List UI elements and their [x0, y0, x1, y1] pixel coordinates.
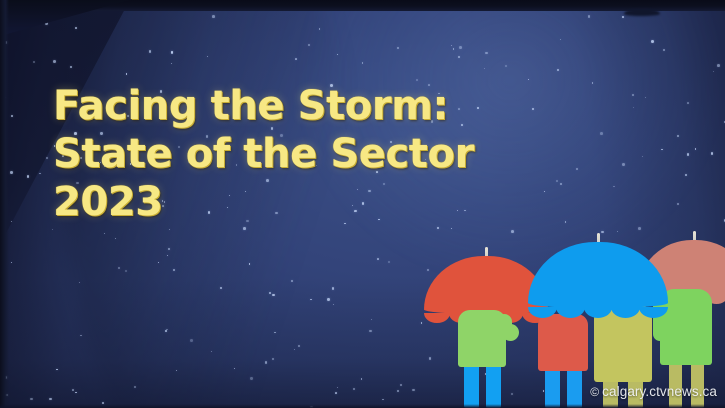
photo-top-notch [624, 9, 660, 16]
photo-left-edge [0, 0, 9, 408]
title-line-3: 2023 [53, 178, 473, 226]
copyright-icon: © [590, 386, 599, 398]
title-line-2: State of the Sector [53, 130, 473, 178]
slide-title: Facing the Storm: State of the Sector 20… [53, 82, 473, 226]
watermark: © calgary.ctvnews.ca [590, 384, 717, 399]
photo-bottom-edge [0, 404, 725, 408]
title-line-1: Facing the Storm: [53, 82, 473, 130]
watermark-text: calgary.ctvnews.ca [602, 384, 717, 399]
slide-photo: Facing the Storm: State of the Sector 20… [0, 0, 725, 408]
